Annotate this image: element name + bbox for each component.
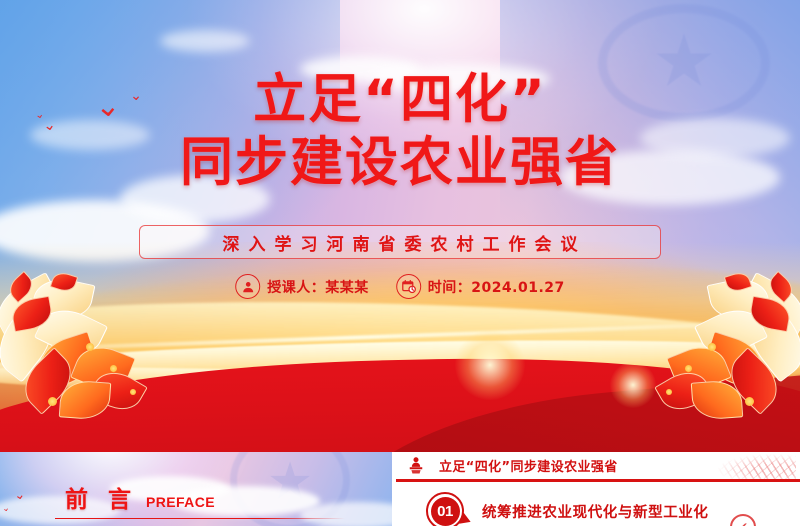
cover-subtitle-text: 深入学习河南省委农村工作会议: [214, 230, 587, 255]
light-flare: [455, 330, 525, 400]
flower-bud: [48, 397, 57, 406]
preface-heading-cn: 前 言: [65, 480, 137, 514]
section-number-badge: 01: [426, 492, 464, 526]
check-circle-icon: [730, 514, 756, 526]
meta-date: 时间：2024.01.27: [396, 274, 565, 299]
meta-presenter-text: 授课人：某某某: [267, 277, 369, 297]
slide-header-bar: 立足“四化”同步建设农业强省: [396, 452, 800, 482]
person-icon: [235, 274, 260, 299]
preface-heading-en: PREFACE: [146, 494, 215, 510]
flower-bud: [86, 343, 94, 351]
cover-subtitle-box: 深入学习河南省委农村工作会议: [139, 225, 661, 259]
cover-title-line2: 同步建设农业强省: [0, 135, 800, 190]
flower-bud: [130, 389, 136, 395]
slide-header-title: 立足“四化”同步建设农业强省: [439, 456, 618, 475]
flower-bud: [745, 397, 754, 406]
slide-thumbnail-section-01[interactable]: 立足“四化”同步建设农业强省 01 统筹推进农业现代化与新型工业化: [396, 452, 800, 526]
cover-slide: ★ ⌄ ⌄ ⌄ ⌄: [0, 0, 800, 452]
cover-title-line1: 立足“四化”: [0, 72, 800, 127]
flower-bud: [110, 365, 117, 372]
cover-meta-row: 授课人：某某某 时间：2024.01.27: [235, 274, 565, 299]
meta-date-text: 时间：2024.01.27: [428, 277, 565, 297]
flower-bud: [685, 365, 692, 372]
slide-thumbnail-strip: ★ ⌄ ⌄ 前 言 PREFACE 立足“四化”同步建设农业强省: [0, 452, 800, 526]
flower-bud: [666, 389, 672, 395]
slide-thumbnail-preface[interactable]: ★ ⌄ ⌄ 前 言 PREFACE: [0, 452, 392, 526]
preface-heading: 前 言 PREFACE: [65, 480, 215, 514]
cloud-shape: [300, 502, 392, 526]
header-ornament: [718, 454, 796, 480]
flower-bud: [708, 343, 716, 351]
section-item-01[interactable]: 01 统筹推进农业现代化与新型工业化: [426, 492, 709, 526]
preface-underline: [55, 518, 345, 519]
cloud-shape: [160, 30, 250, 52]
speaker-podium-icon: [405, 456, 427, 476]
section-number-text: 01: [431, 497, 460, 526]
section-item-text: 统筹推进农业现代化与新型工业化: [482, 501, 709, 522]
peony-flower-left: [0, 277, 200, 452]
calendar-clock-icon: [396, 274, 421, 299]
peony-flower-right: [602, 277, 800, 452]
bird-icon: ⌄: [13, 487, 26, 502]
cover-title-block: 立足“四化” 同步建设农业强省: [0, 72, 800, 190]
meta-presenter: 授课人：某某某: [235, 274, 369, 299]
